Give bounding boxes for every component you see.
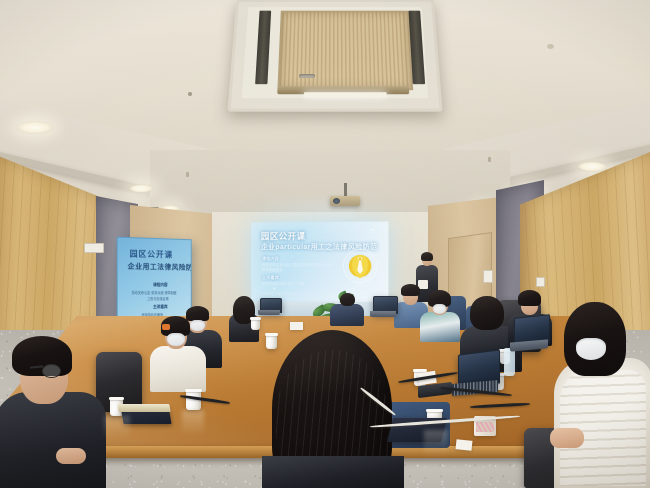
banner-section-line: 劳动关系认定·劳务派遣·规章制度 xyxy=(132,290,177,295)
banner-section-line: 工伤与社保合规 xyxy=(147,296,168,301)
face-mask xyxy=(433,304,446,314)
downlight-icon xyxy=(16,121,54,134)
printed-paper[interactable] xyxy=(290,322,303,330)
projector-icon xyxy=(330,196,360,206)
paper-cup[interactable] xyxy=(251,318,260,330)
person-foreground-right xyxy=(540,300,650,488)
hand xyxy=(550,428,584,448)
hair-clip-icon xyxy=(162,324,170,330)
ceiling-vent xyxy=(299,74,315,78)
sparkle-icon: ✦ xyxy=(273,286,276,291)
face-mask xyxy=(167,333,185,346)
ceiling xyxy=(0,0,650,215)
sprinkler-head-icon xyxy=(188,92,192,96)
slide-section-line: 规章制度建设 xyxy=(262,267,283,272)
ac-vane-left xyxy=(255,11,271,84)
hand xyxy=(56,448,86,464)
paper-cup[interactable] xyxy=(186,390,201,410)
light-switch-plate[interactable] xyxy=(536,277,545,287)
banner-title: 园区公开课 xyxy=(130,248,173,260)
projector-lens-icon xyxy=(333,198,340,204)
eyeglasses-icon xyxy=(42,364,61,378)
light-switch-plate[interactable] xyxy=(483,270,493,283)
wall-sign-left xyxy=(84,243,104,253)
necktie-emblem-logo xyxy=(342,248,378,284)
table-reflection xyxy=(104,416,130,440)
laptop[interactable] xyxy=(370,296,396,318)
banner-section-head: 主讲嘉宾 xyxy=(153,305,168,310)
slide-title: 园区公开课 xyxy=(261,230,306,242)
banner-section-head: 课程内容 xyxy=(153,283,168,288)
person-foreground-left xyxy=(0,336,112,488)
projection-screen: 园区公开课 企业particular用工之法律风险防范 课程内容 劳动关系认定与… xyxy=(251,222,388,305)
sprinkler-head-icon xyxy=(488,157,491,162)
ac-grille xyxy=(277,11,413,90)
air-conditioner-icon xyxy=(227,0,442,112)
water-bottle[interactable] xyxy=(504,348,515,376)
laptop[interactable] xyxy=(258,298,280,316)
paper-cup[interactable] xyxy=(266,334,277,349)
ac-light-strip xyxy=(304,92,387,97)
face-mask xyxy=(576,338,606,360)
sprinkler-head-icon xyxy=(186,172,189,177)
laptop[interactable] xyxy=(510,316,548,350)
notebook[interactable] xyxy=(117,404,170,412)
slide-footer: 主办单位 · 园区管理委员会 · 法律服务中心 xyxy=(261,292,323,296)
table-reflection xyxy=(424,430,448,458)
sparkle-icon: ✦ xyxy=(370,228,374,234)
printed-paper[interactable] xyxy=(456,439,473,451)
conference-room-photo: 园区公开课 企业particular用工之法律风险防范 课程内容 劳动关系认定与… xyxy=(0,0,650,488)
downlight-icon xyxy=(128,184,154,193)
person-left-row-front xyxy=(150,316,206,392)
person-right-row-mid xyxy=(420,290,460,342)
banner-subtitle: 企业用工法律风险防范 xyxy=(128,261,192,272)
table-reflection xyxy=(182,410,204,436)
smoke-detector-icon xyxy=(547,44,554,49)
person-left-row-back xyxy=(330,292,364,326)
ac-frame xyxy=(242,7,428,98)
slide-section-line: 资深劳动法律师·执业十五年 xyxy=(262,281,305,286)
